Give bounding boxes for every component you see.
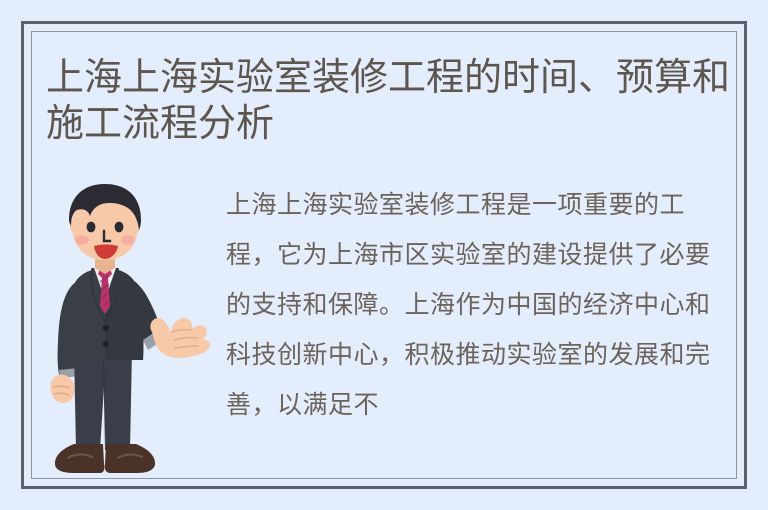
head	[69, 184, 141, 260]
right-eye	[115, 222, 124, 233]
trousers	[74, 350, 132, 450]
article-body-text: 上海上海实验室装修工程是一项重要的工程，它为上海市区实验室的建设提供了必要的支持…	[226, 180, 714, 430]
article-card-page: 上海上海实验室装修工程的时间、预算和施工流程分析	[0, 0, 768, 510]
left-eye	[87, 222, 96, 233]
page-title: 上海上海实验室装修工程的时间、预算和施工流程分析	[46, 55, 738, 147]
presenting-businessman-illustration	[48, 182, 213, 484]
